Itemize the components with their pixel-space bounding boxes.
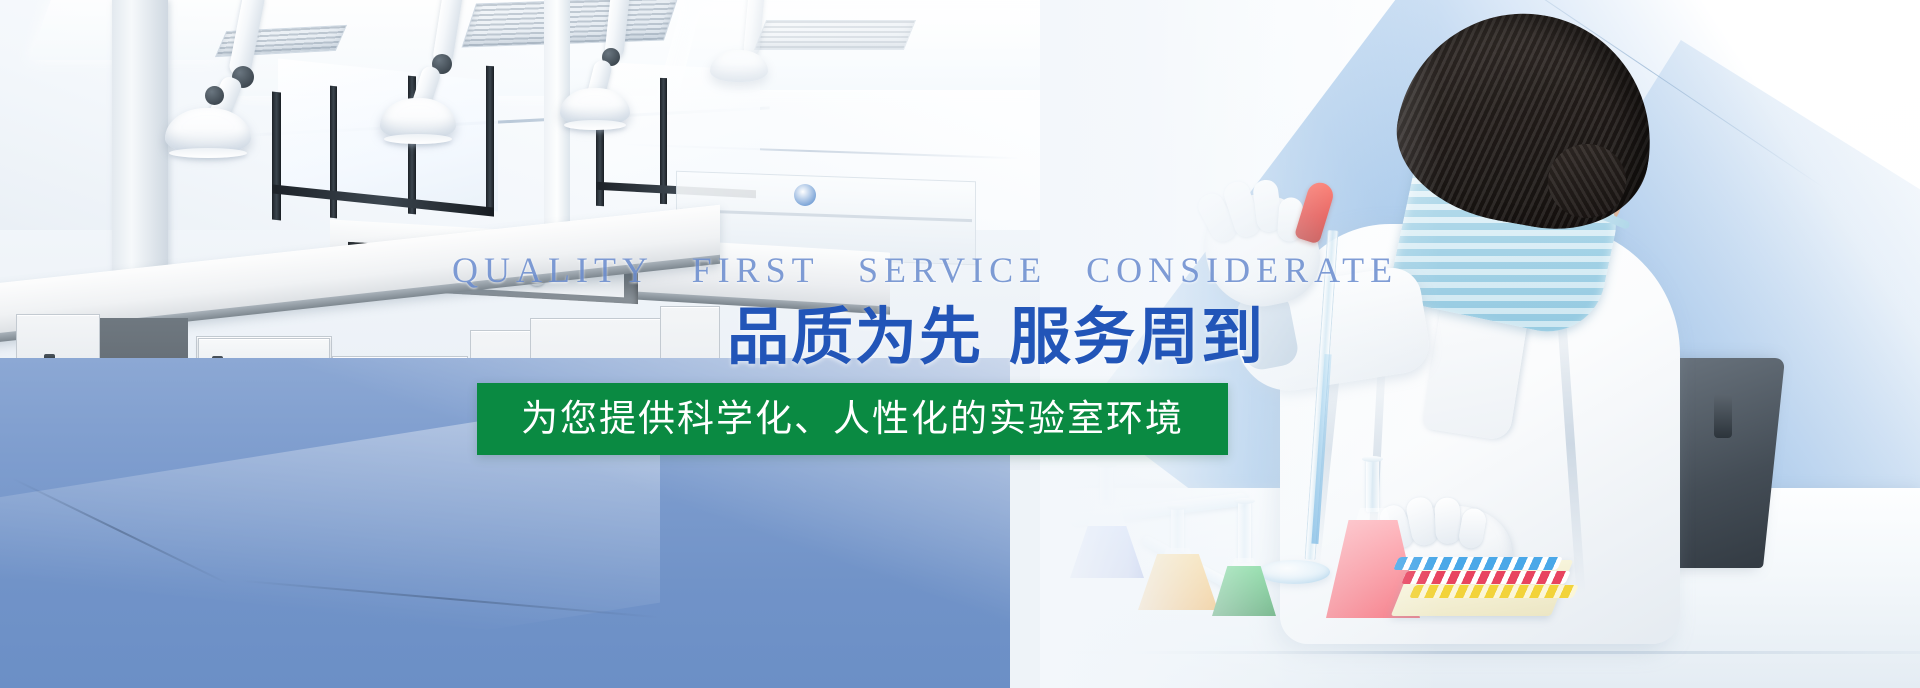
headline-part-1: 品质为先	[727, 303, 983, 372]
hero-banner: QUALITY FIRST SERVICE CONSIDERATE 品质为先服务…	[0, 0, 1920, 688]
headline-part-2: 服务周到	[1009, 303, 1265, 372]
banner-copy: QUALITY FIRST SERVICE CONSIDERATE 品质为先服务…	[0, 0, 1920, 688]
subtitle-text: 为您提供科学化、人性化的实验室环境	[521, 397, 1184, 441]
subtitle-green-bar: 为您提供科学化、人性化的实验室环境	[477, 383, 1228, 455]
banner-eyebrow-text: QUALITY FIRST SERVICE CONSIDERATE	[452, 250, 1398, 290]
banner-headline: 品质为先服务周到	[727, 302, 1265, 374]
